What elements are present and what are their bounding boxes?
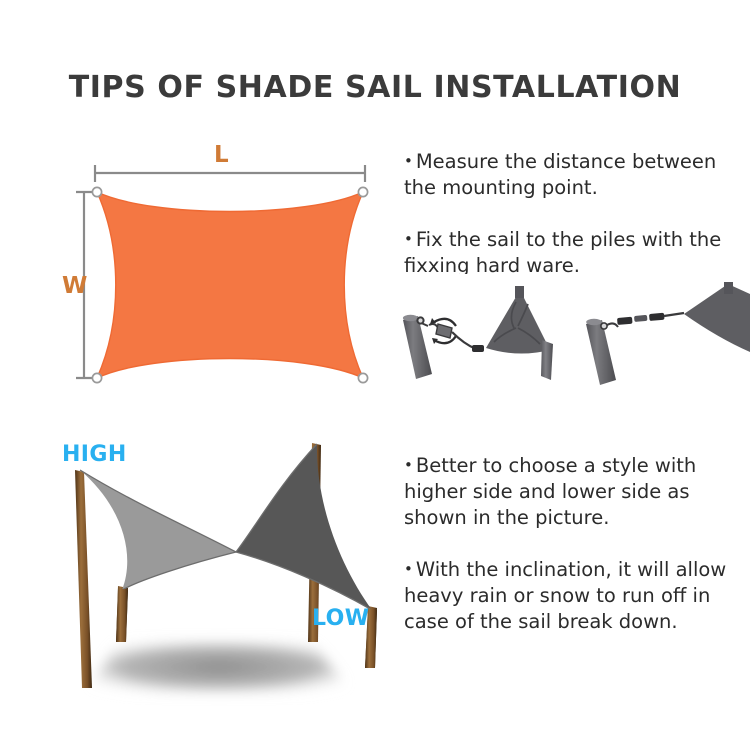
tip-line: •Better to choose a style with [404, 452, 696, 479]
snap-hook [601, 323, 618, 329]
dimension-label-width: W [62, 273, 87, 299]
tip-line: the mounting point. [404, 175, 716, 201]
sail-body [97, 192, 363, 378]
tip-line: •Fix the sail to the piles with the [404, 226, 721, 253]
hardware-item-cable-hook [586, 282, 750, 385]
inclined-sail-figure: HIGH LOW [40, 430, 405, 705]
mounting-pole [403, 315, 432, 379]
tip-line: •Measure the distance between [404, 148, 716, 175]
length-dimension-line [95, 165, 365, 182]
tension-cable [664, 313, 684, 316]
top-tips-clip: •Measure the distance between the mounti… [404, 148, 750, 274]
tip-text: With the inclination, it will allow [416, 558, 726, 581]
tip-text: Better to choose a style with [416, 454, 696, 477]
dimension-label-length: L [214, 142, 229, 168]
rectangular-sail-drawing [62, 140, 402, 395]
bullet-icon: • [404, 230, 416, 248]
tip-text: Fix the sail to the piles with the [416, 228, 721, 251]
tip-line: •With the inclination, it will allow [404, 556, 726, 583]
sail-panel-light [80, 470, 236, 590]
turnbuckle [430, 318, 456, 344]
tip-fix-sail-to-piles: •Fix the sail to the piles with the fixx… [404, 226, 721, 274]
sail-panel-dark [236, 444, 372, 610]
mounting-pole [586, 319, 616, 385]
sail-corner-panel [684, 284, 750, 352]
support-post [541, 340, 553, 380]
high-corner-label: HIGH [62, 442, 127, 467]
tip-line: heavy rain or snow to run off in [404, 583, 726, 609]
page-title: TIPS OF SHADE SAIL INSTALLATION [0, 70, 750, 105]
hardware-item-turnbuckle [403, 286, 553, 380]
sail-corner-panel [486, 290, 550, 354]
fixing-hardware-figure [398, 282, 750, 394]
tip-line: shown in the picture. [404, 505, 696, 531]
turnbuckle-links [617, 313, 665, 325]
tip-measure-distance: •Measure the distance between the mounti… [404, 148, 716, 201]
tip-choose-inclined-style: •Better to choose a style with higher si… [404, 452, 696, 531]
tip-inclination-runoff: •With the inclination, it will allow hea… [404, 556, 726, 635]
support-post [724, 282, 733, 294]
post-back-left [75, 470, 92, 688]
tip-line: case of the sail break down. [404, 609, 726, 635]
post-front-left-overlap [116, 588, 128, 642]
rectangular-sail-figure: L W [62, 140, 402, 395]
bullet-icon: • [404, 560, 416, 578]
tip-text: Measure the distance between [416, 150, 716, 173]
support-post [515, 286, 524, 298]
tip-line: higher side and lower side as [404, 479, 696, 505]
cable-clamp [472, 345, 484, 352]
bottom-tips-clip: •Better to choose a style with higher si… [404, 452, 750, 642]
hardware-drawing [398, 282, 750, 394]
bullet-icon: • [404, 152, 416, 170]
infographic-poster: TIPS OF SHADE SAIL INSTALLATION L W [0, 0, 750, 750]
ground-shadow [86, 642, 352, 692]
bullet-icon: • [404, 456, 416, 474]
tip-line: fixxing hard ware. [404, 253, 721, 274]
low-corner-label: LOW [312, 606, 369, 631]
inclined-sail-drawing [40, 430, 405, 705]
